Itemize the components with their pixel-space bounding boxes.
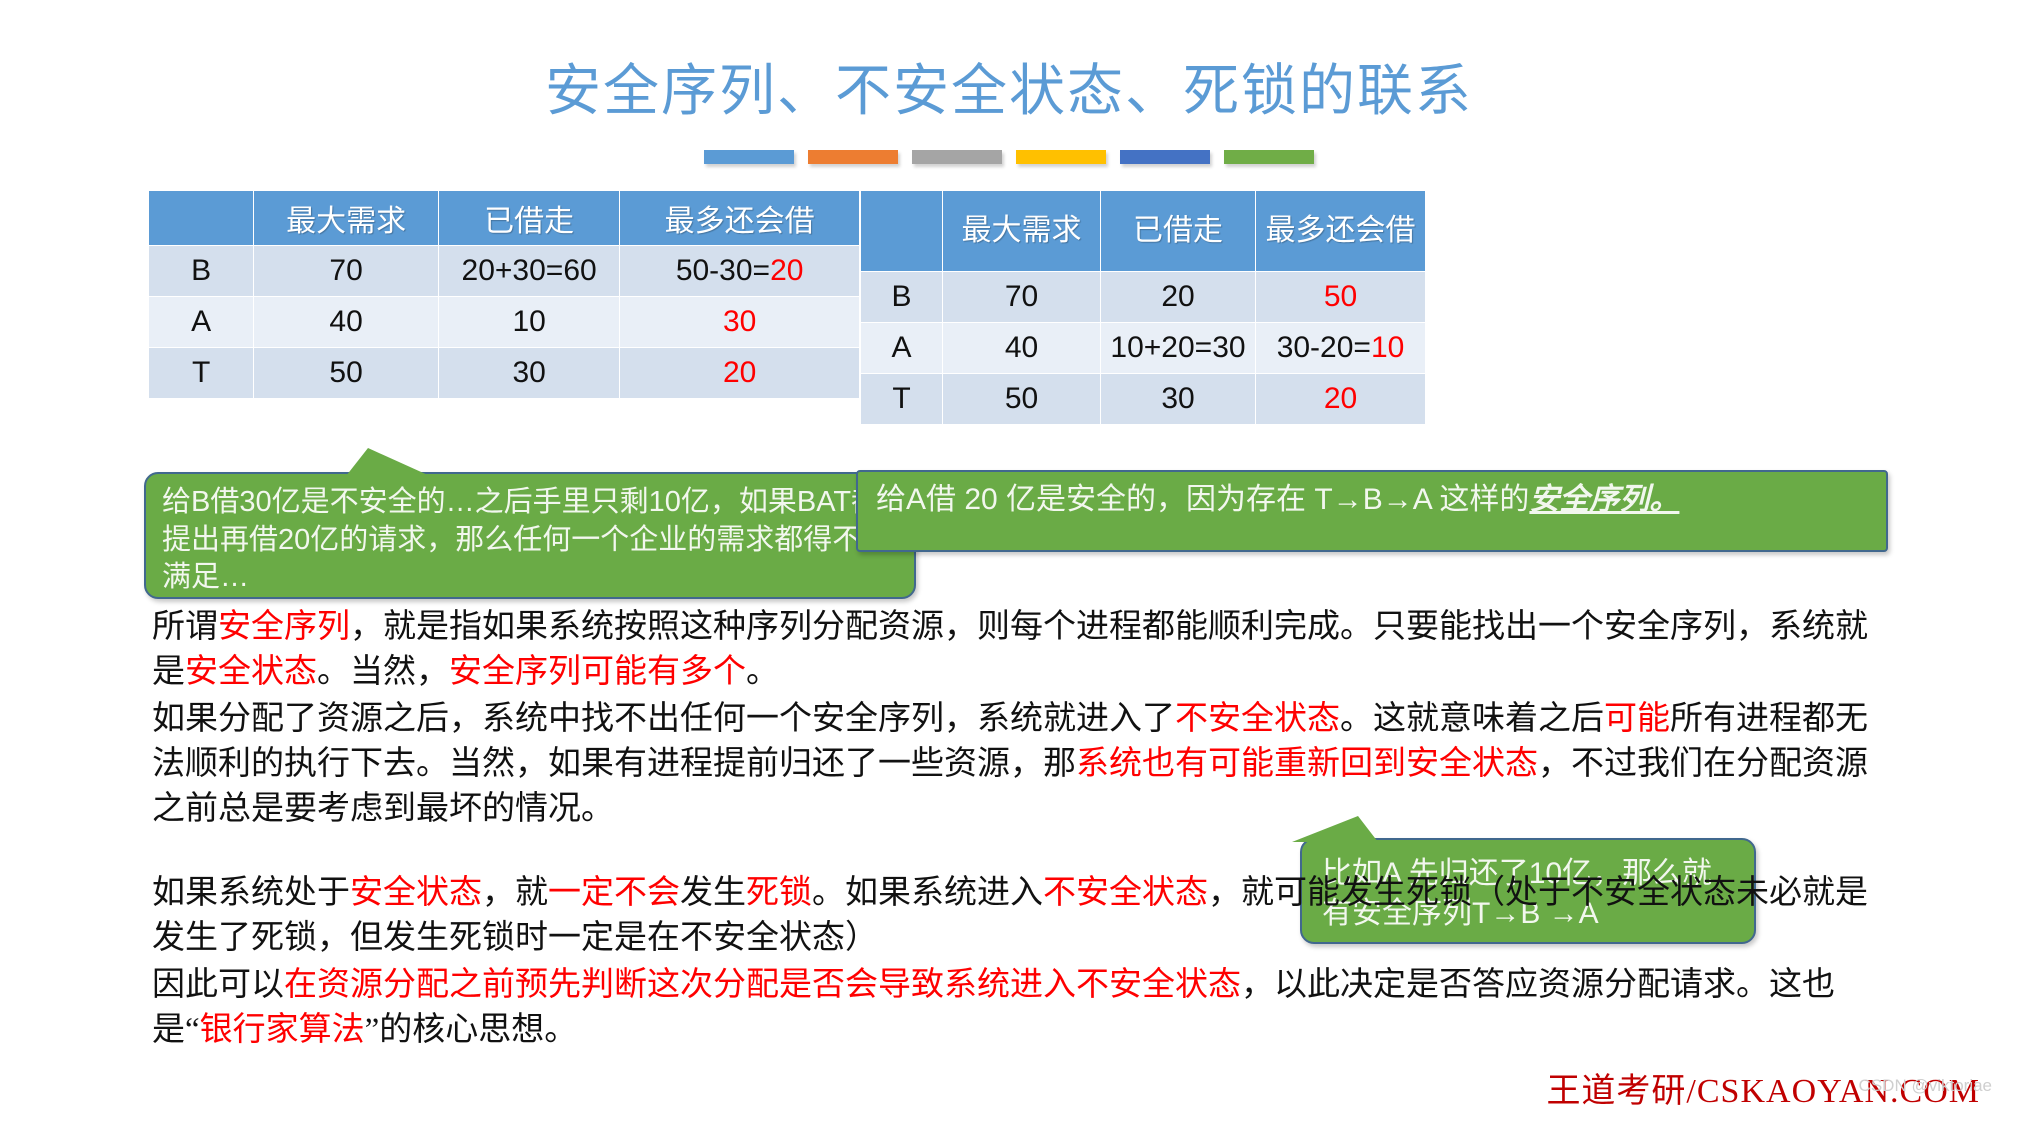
callout-text: 给B借30亿是不安全的…之后手里只剩10亿，如果BAT都提出再借20亿的请求，那… [162,484,900,597]
table-row: A 40 10 30 [149,297,860,348]
p2-highlight-3: 系统也有可能重新回到安全状态 [1076,746,1538,782]
cell-taken: 10 [439,297,620,348]
col-header-max: 最大需求 [254,191,439,246]
accent-segment-2 [808,150,898,164]
col-header-remain: 最多还会借 [620,191,860,246]
p1-seg-a: 所谓 [152,609,218,645]
table-row: T 50 30 20 [861,374,1426,425]
p1-highlight-3: 安全序列可能有多个 [449,654,746,690]
cell-remain: 30 [620,297,860,348]
cell-max: 40 [943,323,1101,374]
p3-seg-b: ，就 [482,875,548,911]
accent-segment-6 [1224,150,1314,164]
body-text-block: 所谓安全序列，就是指如果系统按照这种序列分配资源，则每个进程都能顺利完成。只要能… [152,605,1882,1055]
p3-highlight-3: 死锁 [746,875,812,911]
cell-remain: 50-30=20 [620,246,860,297]
remain-value: 20 [770,254,803,287]
page-title: 安全序列、不安全状态、死锁的联系 [0,46,2018,127]
table-row: T 50 30 20 [149,348,860,399]
cell-max: 50 [943,374,1101,425]
cell-remain: 20 [1256,374,1426,425]
remain-value: 50 [1324,280,1357,313]
table-row: B 70 20+30=60 50-30=20 [149,246,860,297]
allocation-table-left: 最大需求 已借走 最多还会借 B 70 20+30=60 50-30=20 A … [148,190,860,399]
cell-name: B [149,246,254,297]
cell-max: 70 [943,272,1101,323]
p1-seg-c: 。当然， [317,654,449,690]
p2-highlight-2: 可能 [1604,701,1670,737]
remain-value: 30 [723,305,756,338]
callout-safe-a: 给A借 20 亿是安全的，因为存在 T→B→A 这样的安全序列。 [856,470,1888,552]
p4-seg-c: ”的核心思想。 [365,1012,578,1048]
cell-remain: 50 [1256,272,1426,323]
col-header-name [861,191,943,272]
table-row: A 40 10+20=30 30-20=10 [861,323,1426,374]
remain-prefix: 30-20= [1277,331,1371,364]
remain-value: 20 [1324,382,1357,415]
watermark-label: CSDN @viktoriae [1859,1076,1992,1096]
p4-highlight-1: 在资源分配之前预先判断这次分配是否会导致系统进入不安全状态 [284,967,1241,1003]
callout-text: 给A借 20 亿是安全的，因为存在 T→B→A 这样的安全序列。 [876,480,1868,519]
p1-highlight-2: 安全状态 [185,654,317,690]
paragraph-2: 如果分配了资源之后，系统中找不出任何一个安全序列，系统就进入了不安全状态。这就意… [152,697,1882,832]
remain-value: 20 [723,356,756,389]
remain-prefix: 50-30= [676,254,770,287]
cell-taken: 20+30=60 [439,246,620,297]
cell-name: A [861,323,943,374]
col-header-taken: 已借走 [1101,191,1256,272]
p3-seg-c: 发生 [680,875,746,911]
table-row: B 70 20 50 [861,272,1426,323]
cell-name: T [149,348,254,399]
p2-highlight-1: 不安全状态 [1175,701,1340,737]
paragraph-3: 如果系统处于安全状态，就一定不会发生死锁。如果系统进入不安全状态，就可能发生死锁… [152,871,1882,961]
callout-text-prefix: 给A借 20 亿是安全的，因为存在 T→B→A 这样的 [876,483,1529,516]
cell-name: T [861,374,943,425]
p2-seg-b: 。这就意味着之后 [1340,701,1604,737]
p3-highlight-2: 一定不会 [548,875,680,911]
cell-name: A [149,297,254,348]
cell-max: 50 [254,348,439,399]
cell-remain: 30-20=10 [1256,323,1426,374]
accent-segment-1 [704,150,794,164]
cell-taken: 20 [1101,272,1256,323]
title-accent-bar [704,150,1314,164]
cell-taken: 30 [1101,374,1256,425]
paragraph-1: 所谓安全序列，就是指如果系统按照这种序列分配资源，则每个进程都能顺利完成。只要能… [152,605,1882,695]
callout-text-emphasis: 安全序列。 [1529,483,1679,516]
accent-segment-3 [912,150,1002,164]
p3-seg-a: 如果系统处于 [152,875,350,911]
cell-name: B [861,272,943,323]
p1-highlight-1: 安全序列 [218,609,350,645]
p3-seg-d: 。如果系统进入 [812,875,1043,911]
p1-seg-d: 。 [746,654,779,690]
callout-tail [346,448,430,476]
remain-value: 10 [1371,331,1404,364]
p4-seg-a: 因此可以 [152,967,284,1003]
col-header-taken: 已借走 [439,191,620,246]
table-header-row: 最大需求 已借走 最多还会借 [861,191,1426,272]
accent-segment-4 [1016,150,1106,164]
callout-unsafe-b: 给B借30亿是不安全的…之后手里只剩10亿，如果BAT都提出再借20亿的请求，那… [144,472,916,599]
col-header-name [149,191,254,246]
table-header-row: 最大需求 已借走 最多还会借 [149,191,860,246]
cell-remain: 20 [620,348,860,399]
paragraph-4: 因此可以在资源分配之前预先判断这次分配是否会导致系统进入不安全状态，以此决定是否… [152,963,1882,1053]
cell-taken: 30 [439,348,620,399]
p4-highlight-2: 银行家算法 [200,1012,365,1048]
col-header-max: 最大需求 [943,191,1101,272]
p3-highlight-4: 不安全状态 [1043,875,1208,911]
slide-root: 安全序列、不安全状态、死锁的联系 最大需求 已借走 最多还会借 B 70 20+… [0,0,2018,1126]
p3-highlight-1: 安全状态 [350,875,482,911]
col-header-remain: 最多还会借 [1256,191,1426,272]
cell-taken: 10+20=30 [1101,323,1256,374]
cell-max: 40 [254,297,439,348]
allocation-table-right: 最大需求 已借走 最多还会借 B 70 20 50 A 40 10+20=30 … [860,190,1426,425]
cell-max: 70 [254,246,439,297]
accent-segment-5 [1120,150,1210,164]
p2-seg-a: 如果分配了资源之后，系统中找不出任何一个安全序列，系统就进入了 [152,701,1175,737]
